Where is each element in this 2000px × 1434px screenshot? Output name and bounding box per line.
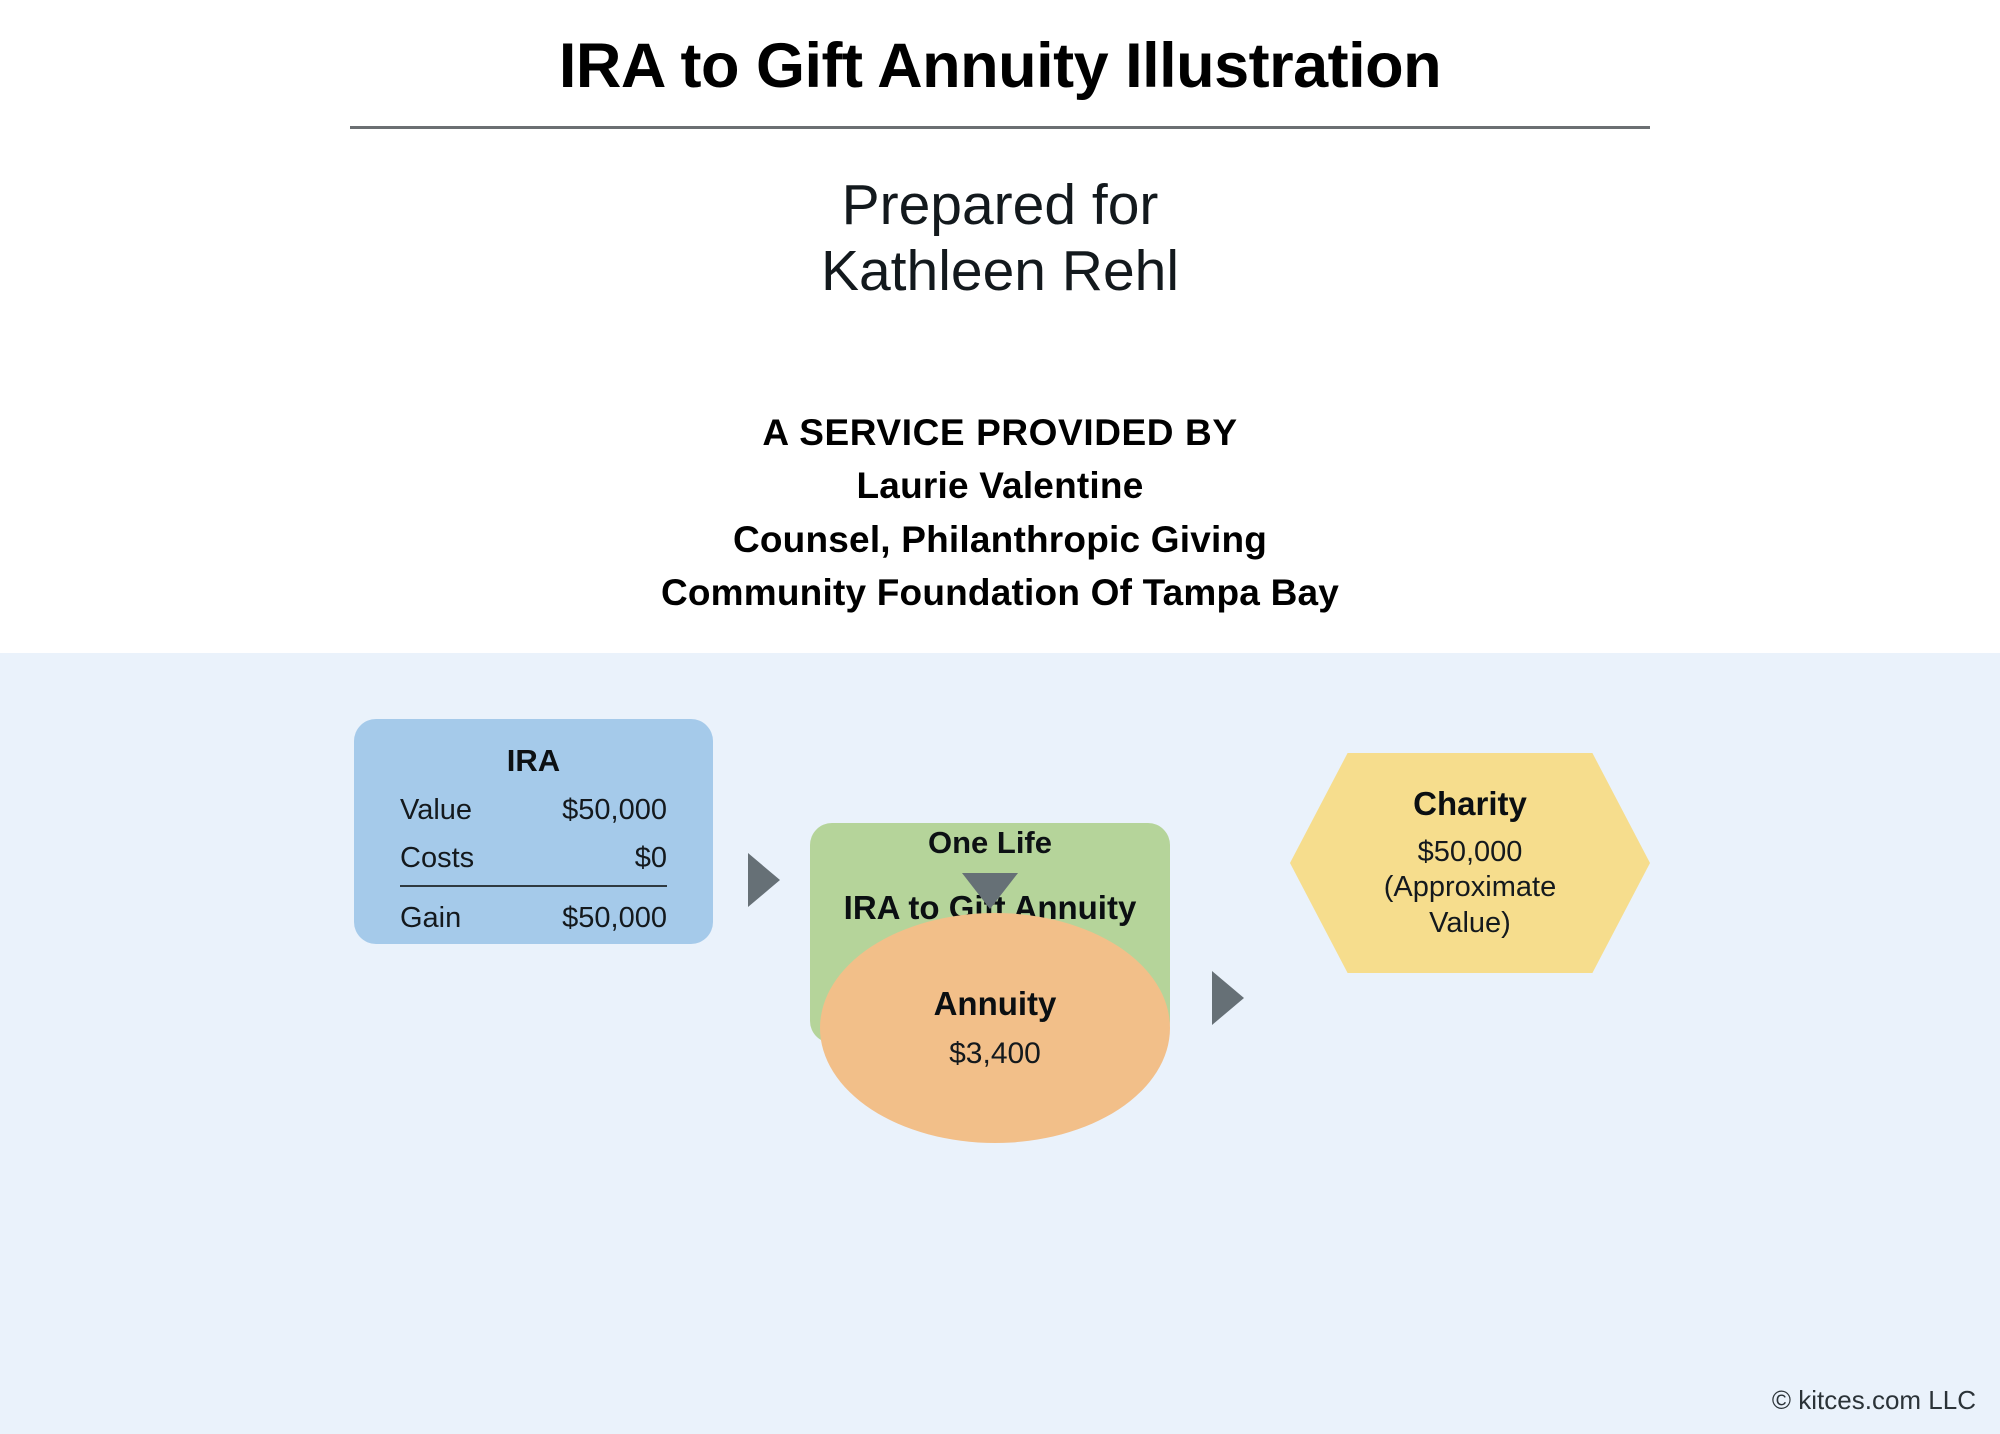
arrow-right-icon-ira-to-gift xyxy=(748,853,780,907)
charity-title: Charity xyxy=(1413,785,1527,823)
ira-row-gain: Gain $50,000 xyxy=(400,902,667,935)
diagram-panel: IRA Value $50,000 Costs $0 Gain $50,000 … xyxy=(0,653,2000,1434)
header-section: IRA to Gift Annuity Illustration Prepare… xyxy=(0,0,2000,653)
annuity-amount: $3,400 xyxy=(949,1037,1041,1071)
arrow-right-icon-gift-to-charity xyxy=(1212,971,1244,1025)
ira-costs-amount: $0 xyxy=(635,842,667,875)
footer-credit: © kitces.com LLC xyxy=(1772,1385,1976,1416)
ira-value-amount: $50,000 xyxy=(562,794,667,827)
ira-costs-label: Costs xyxy=(400,842,474,875)
ira-row-costs: Costs $0 xyxy=(400,842,667,875)
one-life-label: One Life xyxy=(810,825,1170,861)
illustration-page: IRA to Gift Annuity Illustration Prepare… xyxy=(0,0,2000,1434)
prepared-for-block: Prepared for Kathleen Rehl xyxy=(0,172,2000,304)
ira-box-title: IRA xyxy=(400,743,667,779)
ira-row-value: Value $50,000 xyxy=(400,794,667,827)
prepared-for-label: Prepared for xyxy=(0,172,2000,238)
provider-organization: Community Foundation Of Tampa Bay xyxy=(0,566,2000,619)
page-title: IRA to Gift Annuity Illustration xyxy=(0,30,2000,102)
ira-gain-label: Gain xyxy=(400,902,461,935)
annuity-title: Annuity xyxy=(934,985,1057,1023)
provider-role: Counsel, Philanthropic Giving xyxy=(0,513,2000,566)
service-provider-block: A SERVICE PROVIDED BY Laurie Valentine C… xyxy=(0,406,2000,619)
charity-amount-value: $50,000 xyxy=(1418,836,1523,868)
ira-gain-amount: $50,000 xyxy=(562,902,667,935)
charity-amount-note-line2: Value) xyxy=(1429,907,1511,939)
service-provided-by-heading: A SERVICE PROVIDED BY xyxy=(0,406,2000,459)
ira-box: IRA Value $50,000 Costs $0 Gain $50,000 xyxy=(354,719,713,944)
provider-name: Laurie Valentine xyxy=(0,459,2000,512)
arrow-down-icon-gift-to-annuity xyxy=(962,873,1018,909)
charity-amount-note-line1: (Approximate xyxy=(1384,871,1556,903)
charity-amount: $50,000 (Approximate Value) xyxy=(1384,835,1556,941)
client-name: Kathleen Rehl xyxy=(0,238,2000,304)
annuity-ellipse: Annuity $3,400 xyxy=(820,913,1170,1143)
title-divider-rule xyxy=(350,126,1650,129)
ira-value-label: Value xyxy=(400,794,472,827)
ira-subtotal-divider xyxy=(400,885,667,887)
charity-hexagon: Charity $50,000 (Approximate Value) xyxy=(1290,753,1650,973)
